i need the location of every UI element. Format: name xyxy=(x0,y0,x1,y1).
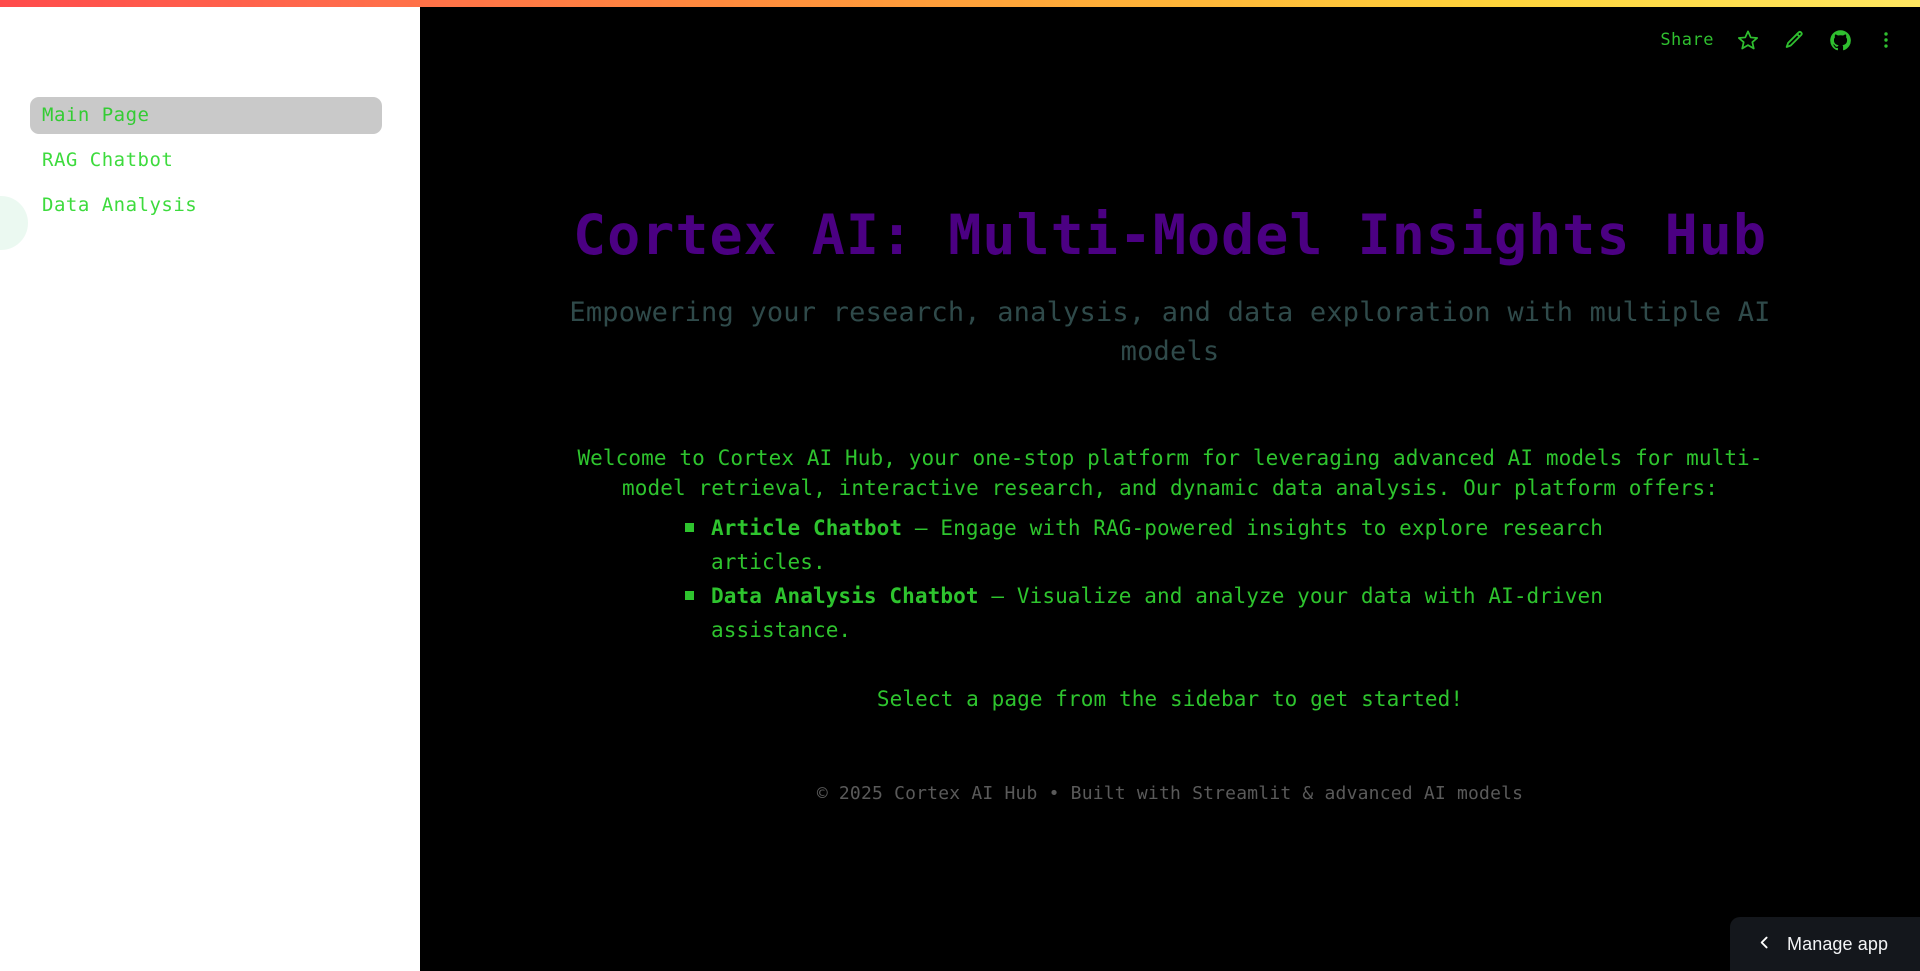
feature-name: Article Chatbot xyxy=(711,516,902,540)
manage-app-button[interactable]: Manage app xyxy=(1730,917,1920,971)
page-title: Cortex AI: Multi-Model Insights Hub xyxy=(420,205,1920,267)
sidebar: Main Page RAG Chatbot Data Analysis xyxy=(0,0,420,971)
list-item: Data Analysis Chatbot – Visualize and an… xyxy=(685,579,1720,647)
list-item: Article Chatbot – Engage with RAG-powere… xyxy=(685,511,1720,579)
sidebar-nav: Main Page RAG Chatbot Data Analysis xyxy=(30,97,390,232)
page-subtitle: Empowering your research, analysis, and … xyxy=(535,293,1805,371)
sidebar-item-data-analysis[interactable]: Data Analysis xyxy=(30,187,382,224)
main-content-area: Share Cortex AI: Multi xyxy=(420,0,1920,971)
manage-app-label: Manage app xyxy=(1787,934,1888,955)
feature-name: Data Analysis Chatbot xyxy=(711,584,979,608)
sidebar-item-label: Data Analysis xyxy=(42,194,197,216)
sidebar-item-main-page[interactable]: Main Page xyxy=(30,97,382,134)
sidebar-item-label: RAG Chatbot xyxy=(42,149,173,171)
sidebar-item-label: Main Page xyxy=(42,104,149,126)
sidebar-collapse-button[interactable] xyxy=(0,196,28,250)
sidebar-item-rag-chatbot[interactable]: RAG Chatbot xyxy=(30,142,382,179)
decoration-bar xyxy=(0,0,1920,7)
call-to-action-text: Select a page from the sidebar to get st… xyxy=(420,687,1920,711)
intro-paragraph: Welcome to Cortex AI Hub, your one-stop … xyxy=(535,443,1805,504)
page-content: Cortex AI: Multi-Model Insights Hub Empo… xyxy=(420,0,1920,804)
chevron-left-icon xyxy=(1756,934,1773,955)
feature-list: Article Chatbot – Engage with RAG-powere… xyxy=(620,511,1720,647)
footer-note: © 2025 Cortex AI Hub • Built with Stream… xyxy=(420,783,1920,804)
